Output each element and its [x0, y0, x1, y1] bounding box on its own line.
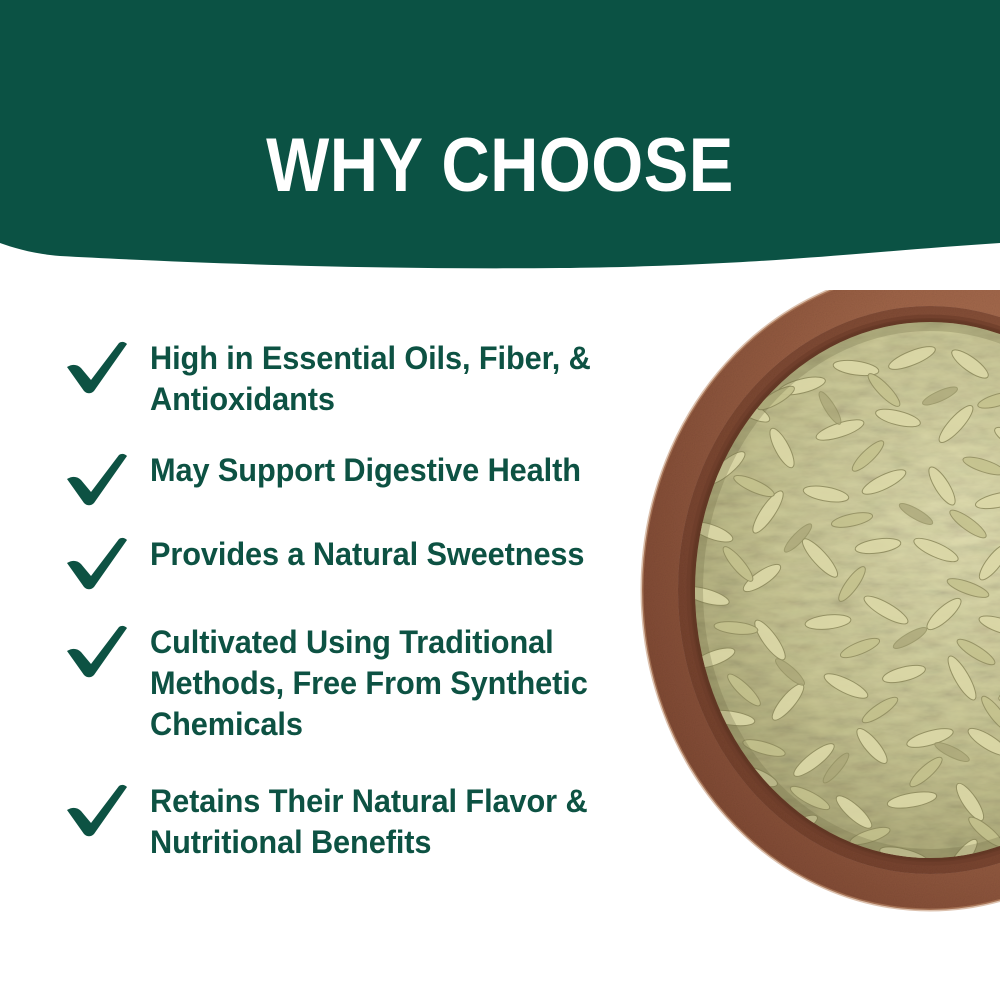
list-item-label: May Support Digestive Health [150, 450, 640, 491]
list-item: High in Essential Oils, Fiber, & Antioxi… [60, 338, 660, 420]
list-item-label: Retains Their Natural Flavor & Nutrition… [150, 781, 640, 863]
header-banner: WHY CHOOSE OUR FENNEL SEEDS? [0, 0, 1000, 280]
list-item-label: Cultivated Using Traditional Methods, Fr… [150, 622, 640, 745]
checkmark-icon [64, 452, 130, 508]
bowl-illustration [630, 290, 1000, 930]
checkmark-icon [64, 783, 130, 839]
list-item: May Support Digestive Health [60, 450, 660, 506]
list-item-label: Provides a Natural Sweetness [150, 534, 640, 575]
page-title-line-1: WHY CHOOSE [60, 128, 940, 204]
list-item: Cultivated Using Traditional Methods, Fr… [60, 622, 660, 745]
page-title: WHY CHOOSE OUR FENNEL SEEDS? [60, 52, 940, 280]
fennel-seeds-bowl-image [630, 290, 1000, 930]
checkmark-icon [64, 340, 130, 396]
product-benefits-infographic: WHY CHOOSE OUR FENNEL SEEDS? High in Ess… [0, 0, 1000, 1000]
list-item: Provides a Natural Sweetness [60, 534, 660, 590]
checkmark-icon [64, 624, 130, 680]
list-item-label: High in Essential Oils, Fiber, & Antioxi… [150, 338, 640, 420]
list-item: Retains Their Natural Flavor & Nutrition… [60, 781, 660, 863]
benefits-list: High in Essential Oils, Fiber, & Antioxi… [60, 338, 660, 863]
checkmark-icon [64, 536, 130, 592]
